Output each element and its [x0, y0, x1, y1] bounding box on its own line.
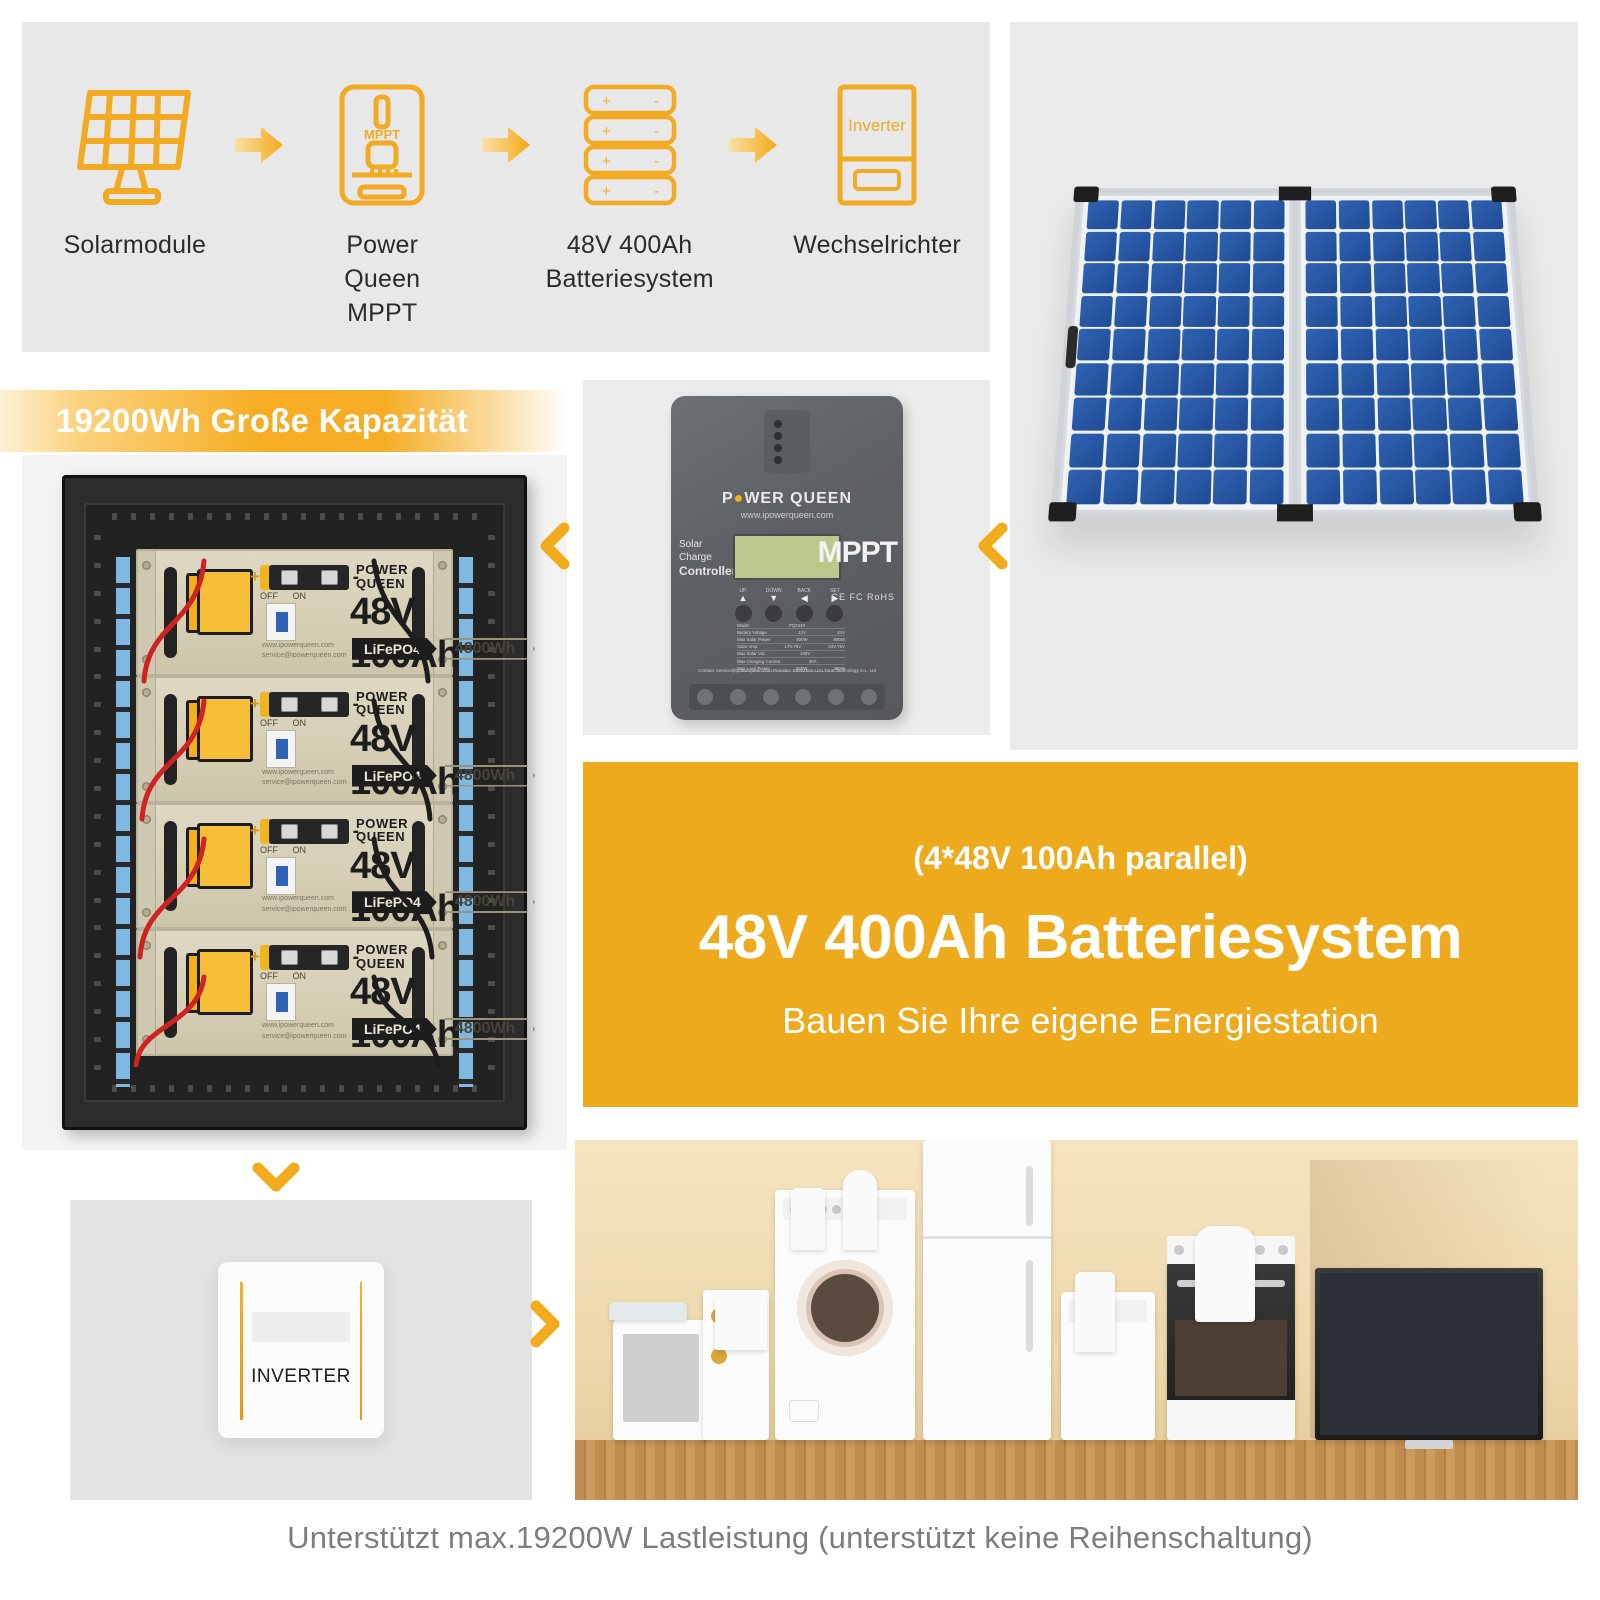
flow-steps-row: Solarmodule: [22, 82, 990, 282]
washer-drum: [797, 1260, 893, 1356]
battery-system-callout: (4*48V 100Ah parallel) 48V 400Ah Batteri…: [583, 762, 1578, 1107]
negative-terminal-block: [269, 692, 349, 717]
solar-panel-right-half: [1298, 193, 1533, 512]
rack-blue-strip: [459, 557, 473, 1087]
flow-arrow-2: [477, 82, 535, 207]
mppt-brand-label: P●WER QUEEN: [671, 490, 903, 508]
energy-badge: 4800Wh: [445, 765, 535, 787]
inverter-label: INVERTER: [218, 1366, 384, 1388]
module-badges: LiFePO4 4800Wh: [352, 765, 535, 787]
mppt-terminal-ports: [689, 684, 885, 710]
fridge-handle: [1026, 1260, 1033, 1352]
battery-module: + - OFFON www.ipowerqueen.comservice@ipo…: [136, 676, 453, 803]
battery-module-stack: + - OFFON www.ipowerqueen.comservice@ipo…: [136, 549, 453, 1056]
breaker-labels: OFFON: [260, 845, 306, 855]
mppt-button-row[interactable]: UP▲ DOWN▼ BACK◀ SET▶: [733, 588, 845, 622]
battery-stack-icon: +- +- +- +-: [582, 82, 678, 207]
breaker-labels: OFFON: [260, 718, 306, 728]
table-row: Max Charging Current30A: [737, 658, 845, 665]
breaker-labels: OFFON: [260, 971, 306, 981]
inverter-icon: Inverter: [835, 82, 919, 207]
flow-step-solar: Solarmodule: [60, 82, 210, 263]
solar-cell-grid: [1305, 200, 1523, 504]
module-screw: [438, 561, 447, 570]
svg-text:+: +: [602, 183, 611, 200]
mppt-device: P●WER QUEEN www.ipowerqueen.com Solar Ch…: [671, 396, 903, 720]
mppt-controller-icon: MPPT: [336, 82, 428, 207]
solar-panel-hinge: [1279, 187, 1311, 201]
rack-blue-strip: [116, 557, 130, 1087]
footer-caption: Unterstützt max.19200W Lastleistung (unt…: [0, 1520, 1600, 1556]
inverter-device: INVERTER: [218, 1262, 384, 1438]
module-cell-graphic: [186, 700, 244, 760]
callout-tagline: Bauen Sie Ihre eigene Energiestation: [583, 1000, 1578, 1042]
solar-cell-grid: [1066, 200, 1284, 504]
table-row: Battery Voltage12V24V: [737, 629, 845, 636]
module-spec-label: 48V 100Ah: [350, 971, 459, 1057]
flow-step-inverter: Inverter Wechselrichter: [802, 82, 952, 263]
module-cell-graphic: [186, 953, 244, 1013]
module-handle: [164, 694, 177, 785]
mppt-certification-marks: CE FC RoHS: [831, 592, 895, 602]
inverter-accent-line: [360, 1282, 363, 1420]
module-breaker: [266, 603, 296, 641]
inverter-display: [252, 1312, 350, 1342]
battery-module: + - OFFON www.ipowerqueen.comservice@ipo…: [136, 929, 453, 1056]
module-screw: [142, 1035, 151, 1044]
module-plus-label: +: [250, 694, 260, 714]
solar-panel-hinge: [1277, 504, 1313, 521]
solar-panel-photo: [1010, 22, 1578, 750]
svg-text:-: -: [654, 123, 659, 140]
mppt-url-label: www.ipowerqueen.com: [671, 510, 903, 520]
solar-panel-icon: [76, 82, 194, 207]
appliance-toaster: [715, 1296, 767, 1350]
product-infographic: Solarmodule: [0, 0, 1600, 1600]
module-breaker: [266, 857, 296, 895]
module-handle: [164, 567, 177, 658]
flow-step-label: Solarmodule: [64, 229, 207, 263]
inverter-photo-panel: INVERTER: [70, 1200, 532, 1500]
appliances-photo: [575, 1140, 1578, 1500]
energy-badge: 4800Wh: [445, 638, 535, 660]
module-spec-label: 48V 100Ah: [350, 718, 459, 804]
module-badges: LiFePO4 4800Wh: [352, 1018, 535, 1040]
appliance-dishwasher: [613, 1320, 709, 1440]
module-screw: [438, 815, 447, 824]
inverter-accent-line: [240, 1282, 243, 1420]
module-screw: [142, 655, 151, 664]
inverter-icon-text: Inverter: [848, 116, 906, 135]
appliance-refrigerator: [923, 1140, 1051, 1440]
battery-rack-interior: + - OFFON www.ipowerqueen.comservice@ipo…: [84, 503, 505, 1102]
mppt-button-down[interactable]: DOWN▼: [764, 588, 784, 622]
table-row: ModelPQ2440: [737, 622, 845, 629]
chevron-left-icon: [528, 518, 584, 574]
module-brand: POWERQUEEN: [356, 563, 408, 590]
module-handle: [164, 821, 177, 912]
table-row: Solar Vmp17V-75V34V-75V: [737, 644, 845, 651]
module-brand: POWERQUEEN: [356, 690, 408, 717]
module-plus-label: +: [250, 567, 260, 587]
module-breaker: [266, 730, 296, 768]
flow-arrow-3: [724, 82, 782, 207]
solar-panel-corner: [1048, 502, 1077, 521]
battery-module: + - OFFON www.ipowerqueen.comservice@ipo…: [136, 549, 453, 676]
flow-step-label: 48V 400AhBatteriesystem: [546, 229, 714, 297]
solar-panel-corner: [1073, 187, 1099, 203]
callout-title: 48V 400Ah Batteriesystem: [583, 902, 1578, 973]
chevron-left-icon: [966, 518, 1022, 574]
module-screw: [142, 688, 151, 697]
energy-badge: 4800Wh: [445, 1018, 535, 1040]
module-screw: [142, 561, 151, 570]
svg-text:+: +: [602, 93, 611, 110]
appliance-coffee-maker: [1075, 1272, 1115, 1352]
svg-text:-: -: [654, 183, 659, 200]
module-screw: [438, 688, 447, 697]
module-fineprint: www.ipowerqueen.comservice@ipowerqueen.c…: [262, 641, 347, 662]
mppt-contact-line: Contact: service@ipowerqueen.com Provide…: [677, 668, 897, 673]
flow-arrow-1: [230, 82, 288, 207]
battery-rack-enclosure: + - OFFON www.ipowerqueen.comservice@ipo…: [62, 475, 527, 1130]
mppt-button-back[interactable]: BACK◀: [794, 588, 814, 622]
appliance-blender: [843, 1170, 877, 1250]
appliance-stand-mixer: [1195, 1226, 1255, 1322]
rack-vent-holes: [112, 513, 477, 520]
svg-text:+: +: [602, 153, 611, 170]
flow-step-mppt: MPPT Power QueenMPPT: [307, 82, 457, 330]
module-spec-label: 48V 100Ah: [350, 845, 459, 931]
flow-step-label: Power QueenMPPT: [307, 229, 457, 330]
mppt-led-strip: [764, 410, 810, 474]
module-plus-label: +: [250, 821, 260, 841]
module-breaker: [266, 983, 296, 1021]
module-cell-graphic: [186, 827, 244, 887]
appliance-tray: [609, 1302, 687, 1320]
room-floor: [575, 1440, 1578, 1500]
module-badges: LiFePO4 4800Wh: [352, 891, 535, 913]
module-fineprint: www.ipowerqueen.comservice@ipowerqueen.c…: [262, 894, 347, 915]
module-plus-label: +: [250, 947, 260, 967]
mppt-badge-label: MPPT: [818, 536, 897, 570]
chevron-down-icon: [248, 1148, 304, 1204]
capacity-banner: 19200Wh Große Kapazität: [0, 390, 566, 452]
solar-panel-left-half: [1057, 193, 1292, 512]
chemistry-badge: LiFePO4: [352, 891, 437, 913]
chevron-right-icon: [516, 1296, 572, 1352]
chemistry-badge: LiFePO4: [352, 638, 437, 660]
appliance-television: [1315, 1268, 1543, 1440]
module-screw: [142, 815, 151, 824]
table-row: Max Solar Power400W800W: [737, 636, 845, 643]
system-flow-diagram-panel: Solarmodule: [22, 22, 990, 352]
energy-badge: 4800Wh: [445, 891, 535, 913]
breaker-labels: OFFON: [260, 591, 306, 601]
svg-text:-: -: [654, 93, 659, 110]
solar-panel-corner: [1491, 187, 1517, 203]
chemistry-badge: LiFePO4: [352, 765, 437, 787]
module-fineprint: www.ipowerqueen.comservice@ipowerqueen.c…: [262, 768, 347, 789]
flow-step-label: Wechselrichter: [793, 229, 961, 263]
capacity-banner-text: 19200Wh Große Kapazität: [56, 402, 468, 440]
mppt-button-up[interactable]: UP▲: [733, 588, 753, 622]
fridge-handle: [1026, 1166, 1033, 1226]
rack-vent-holes: [112, 1085, 477, 1092]
module-handle: [164, 947, 177, 1038]
mppt-title-label: Solar ChargeController: [679, 538, 733, 580]
chemistry-badge: LiFePO4: [352, 1018, 437, 1040]
battery-rack-photo: + - OFFON www.ipowerqueen.comservice@ipo…: [22, 455, 567, 1150]
module-fineprint: www.ipowerqueen.comservice@ipowerqueen.c…: [262, 1021, 347, 1042]
appliance-kettle: [791, 1188, 825, 1250]
callout-subtitle: (4*48V 100Ah parallel): [583, 840, 1578, 877]
module-brand: POWERQUEEN: [356, 817, 408, 844]
negative-terminal-block: [269, 565, 349, 590]
table-row: Max Solar Voc100V: [737, 651, 845, 658]
module-screw: [142, 782, 151, 791]
negative-terminal-block: [269, 819, 349, 844]
mppt-icon-text: MPPT: [364, 127, 400, 142]
folding-solar-panel: [1050, 188, 1539, 519]
negative-terminal-block: [269, 945, 349, 970]
solar-panel-corner: [1513, 502, 1542, 521]
rack-rail-holes: [94, 535, 101, 1070]
module-brand: POWERQUEEN: [356, 943, 408, 970]
mppt-spec-table: ModelPQ2440 Battery Voltage12V24V Max So…: [737, 622, 845, 672]
flow-step-battery: +- +- +- +- 48V 400AhBatteriesystem: [555, 82, 705, 297]
battery-module: + - OFFON www.ipowerqueen.comservice@ipo…: [136, 803, 453, 930]
module-badges: LiFePO4 4800Wh: [352, 638, 535, 660]
module-cell-graphic: [186, 573, 244, 633]
mppt-controller-photo: P●WER QUEEN www.ipowerqueen.com Solar Ch…: [583, 380, 990, 735]
svg-text:+: +: [602, 123, 611, 140]
module-spec-label: 48V 100Ah: [350, 591, 459, 677]
rack-rail-holes: [488, 535, 495, 1070]
svg-text:-: -: [654, 153, 659, 170]
